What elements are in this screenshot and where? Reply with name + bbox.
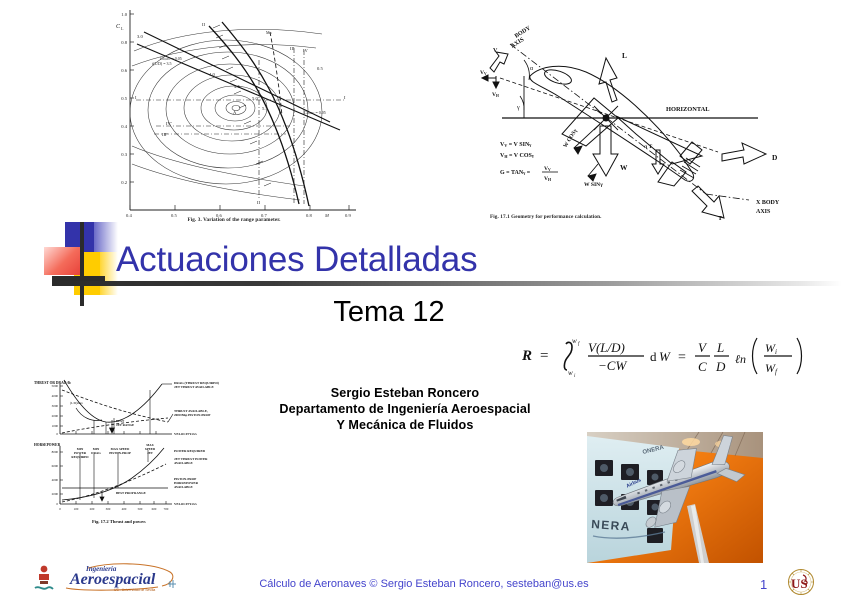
- author-department-2: Y Mecánica de Fluidos: [230, 417, 580, 433]
- svg-text:D: D: [772, 153, 777, 162]
- us-seal-label: US: [791, 576, 808, 591]
- svg-text:Wi: Wi: [765, 341, 777, 356]
- svg-text:=: =: [540, 348, 548, 364]
- range-parameter-plot: 0.4 0.5 0.6 0.7 0.8 0.9 M 1.0 0.8: [104, 4, 364, 226]
- svg-text:3000: 3000: [52, 404, 59, 408]
- svg-text:IV': IV': [166, 121, 172, 126]
- svg-text:V(L/D): V(L/D): [588, 340, 625, 355]
- svg-text:5.5: 5.5: [262, 106, 268, 111]
- svg-text:2000: 2000: [52, 414, 59, 418]
- svg-text:IV: IV: [303, 48, 309, 53]
- svg-text:R: R: [521, 348, 532, 364]
- svg-text:II: II: [202, 22, 206, 27]
- footer-credit: Cálculo de Aeronaves © Sergio Esteban Ro…: [0, 578, 848, 590]
- svg-text:NERA: NERA: [591, 517, 631, 534]
- svg-text:AVAILABLE: AVAILABLE: [174, 461, 194, 465]
- svg-text:2000 Bhp PISTON-PROP: 2000 Bhp PISTON-PROP: [174, 413, 210, 417]
- svg-text:D: D: [715, 359, 726, 374]
- figure-range-caption: Fig. 3. Variation of the range parameter…: [104, 217, 364, 223]
- svg-text:1.0: 1.0: [121, 12, 127, 17]
- svg-text:4.5: 4.5: [234, 84, 240, 89]
- slide-canvas: 0.4 0.5 0.6 0.7 0.8 0.9 M 1.0 0.8: [0, 0, 848, 599]
- svg-text:V: V: [698, 340, 708, 355]
- svg-text:JET THRUST AVAILABLE: JET THRUST AVAILABLE: [174, 385, 214, 389]
- svg-text:6000: 6000: [52, 464, 59, 468]
- svg-text:1000: 1000: [52, 424, 59, 428]
- figure-geometry-caption: Fig. 17.1 Geometry for performance calcu…: [466, 214, 848, 220]
- svg-text:Wf: Wf: [765, 361, 778, 376]
- svg-text:=: =: [678, 350, 686, 365]
- svg-text:Fig. 17.2 Thrust and power.: Fig. 17.2 Thrust and power.: [92, 519, 146, 524]
- svg-text:3.0: 3.0: [137, 34, 143, 39]
- svg-text:VELOCITY-ft/s: VELOCITY-ft/s: [174, 502, 197, 506]
- title-divider: [52, 281, 842, 286]
- svg-text:G = TANγ =: G = TANγ =: [500, 170, 531, 176]
- svg-text:VELOCITY-ft/s: VELOCITY-ft/s: [174, 432, 197, 436]
- svg-text:4000: 4000: [52, 394, 59, 398]
- svg-text:d: d: [650, 349, 657, 364]
- svg-text:II: II: [257, 200, 261, 205]
- svg-text:i: i: [574, 374, 576, 378]
- svg-text:4000: 4000: [52, 478, 59, 482]
- svg-text:700: 700: [164, 507, 169, 511]
- author-name: Sergio Esteban Roncero: [230, 385, 580, 401]
- decorative-logo-block: [44, 222, 118, 306]
- deco-red-square: [44, 247, 80, 275]
- svg-text:W: W: [659, 349, 671, 364]
- svg-text:5000: 5000: [52, 384, 59, 388]
- svg-text:HORSEPOWER: HORSEPOWER: [34, 443, 61, 447]
- svg-text:0.8: 0.8: [121, 40, 127, 45]
- svg-text:L: L: [716, 340, 724, 355]
- svg-text:AVAILABLE: AVAILABLE: [174, 485, 194, 489]
- svg-text:0.5: 0.5: [317, 66, 323, 71]
- page-number: 1: [760, 577, 767, 592]
- svg-text:REQUIRED: REQUIRED: [71, 455, 89, 459]
- svg-text:JET: JET: [147, 451, 154, 455]
- author-block: Sergio Esteban Roncero Departamento de I…: [230, 385, 580, 433]
- svg-text:(L/D)max: (L/D)max: [70, 401, 83, 405]
- svg-text:0.6: 0.6: [121, 68, 127, 73]
- range-equation-formula: R = w f w i V(L/D) −CW d W = V C: [520, 330, 820, 378]
- deco-vertical-bar: [80, 222, 84, 306]
- photo-airliner-model: NERA: [587, 432, 763, 563]
- svg-text:0.5: 0.5: [121, 96, 127, 101]
- svg-text:L: L: [622, 51, 627, 60]
- svg-text:−CW: −CW: [598, 358, 627, 373]
- svg-text:100: 100: [74, 507, 79, 511]
- svg-text:VH = V COSγ: VH = V COSγ: [500, 153, 534, 159]
- thrust-power-plot: THRUST OR DRAG-lb 5000 4000 3000 2000 10…: [32, 378, 238, 528]
- svg-text:α T: α T: [644, 144, 653, 150]
- svg-text:V: V: [493, 48, 498, 54]
- page-title: Actuaciones Detalladas: [116, 240, 477, 280]
- figure-thrust-power: THRUST OR DRAG-lb 5000 4000 3000 2000 10…: [32, 378, 238, 528]
- svg-text:w: w: [568, 369, 573, 377]
- svg-text:W SINγ: W SINγ: [584, 182, 603, 188]
- svg-text:8000: 8000: [52, 450, 59, 454]
- svg-text:5.0: 5.0: [252, 96, 258, 101]
- range-equation: R = w f w i V(L/D) −CW d W = V C: [520, 330, 820, 378]
- page-subtitle: Tema 12: [0, 296, 848, 329]
- us-seal-icon: US: [786, 568, 816, 596]
- svg-text:W: W: [620, 163, 628, 172]
- svg-text:III': III': [162, 132, 168, 137]
- svg-text:w: w: [572, 337, 577, 345]
- svg-text:t(L/D) = 3.5: t(L/D) = 3.5: [152, 61, 171, 66]
- geometry-performance-diagram: HORIZONTAL BODY AXIS X BODY AXIS α γ: [466, 14, 838, 236]
- svg-text:0.3: 0.3: [121, 152, 127, 157]
- exhibition-photo: NERA: [587, 432, 763, 563]
- svg-text:ℓn: ℓn: [735, 352, 746, 366]
- svg-text:600: 600: [152, 507, 157, 511]
- svg-text:III: III: [290, 46, 295, 51]
- svg-text:300: 300: [106, 507, 111, 511]
- svg-text:BEST PROP RANGE: BEST PROP RANGE: [116, 491, 146, 495]
- svg-text:400: 400: [122, 507, 127, 511]
- svg-text:JET RANGE: JET RANGE: [116, 423, 134, 427]
- svg-text:C: C: [698, 359, 707, 374]
- svg-text:0.4: 0.4: [121, 124, 127, 129]
- svg-text:HORIZONTAL: HORIZONTAL: [666, 106, 710, 113]
- deco-blue-gradient: [94, 222, 118, 254]
- universidad-sevilla-logo: US: [786, 568, 816, 596]
- svg-text:VV = V SINγ: VV = V SINγ: [500, 142, 531, 148]
- svg-text:γ: γ: [516, 105, 520, 111]
- svg-text:2000: 2000: [52, 492, 59, 496]
- svg-text:PISTON-PROP: PISTON-PROP: [109, 451, 131, 455]
- svg-text:0.2: 0.2: [121, 180, 127, 185]
- svg-text:4.0: 4.0: [209, 72, 215, 77]
- svg-text:X BODY: X BODY: [756, 200, 780, 206]
- svg-text:DRAG: DRAG: [91, 451, 101, 455]
- svg-text:f: f: [578, 342, 580, 347]
- author-department: Departamento de Ingeniería Aeroespacial: [230, 401, 580, 417]
- figure-range-parameter: 0.4 0.5 0.6 0.7 0.8 0.9 M 1.0 0.8: [104, 4, 364, 236]
- svg-text:200: 200: [90, 507, 95, 511]
- figure-geometry: HORIZONTAL BODY AXIS X BODY AXIS α γ: [466, 14, 838, 236]
- svg-text:500: 500: [138, 507, 143, 511]
- svg-text:POWER REQUIRED: POWER REQUIRED: [174, 449, 206, 453]
